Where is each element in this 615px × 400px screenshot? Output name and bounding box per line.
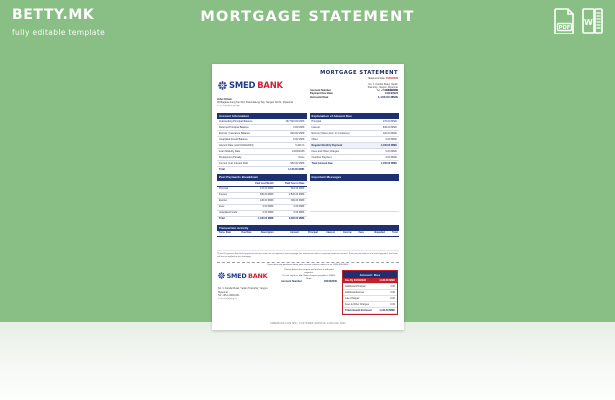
transaction-activity-table: Trans. Date Due Date Description Amount …	[217, 231, 399, 251]
brand-subtitle: fully editable template	[12, 28, 105, 37]
logo-primary-text: SMED	[229, 81, 255, 89]
explanation-table: Principal170.00 MMK Interest840.00 MMK E…	[310, 119, 400, 166]
letterhead: SMED BANK MORTGAGE STATEMENT Statement D…	[217, 69, 399, 96]
logo-secondary-text: BANK	[248, 273, 267, 279]
row-value: 1,130.00 MMK	[273, 167, 307, 172]
table-row-total: Total Amount Enclosed1,130.00 MMK	[343, 308, 397, 314]
stub-account-line: Account Number 000402000	[281, 280, 337, 283]
account-information-table: Outstanding Principal Balance167,500.00 …	[217, 119, 307, 172]
stub-bank-logo: SMED BANK	[218, 272, 267, 279]
bank-logo: SMED BANK	[218, 81, 283, 90]
important-messages-section: Important Messages	[310, 174, 400, 221]
fact-row-amount-due: Amount Due 1,130.00 MMK	[310, 96, 398, 99]
perforation-note: If you have any questions about your acc…	[217, 263, 399, 268]
past-payments-section: Past Payments Breakdown Paid Last Month …	[217, 174, 307, 221]
row-label: Total	[217, 216, 246, 221]
statement-title: MORTGAGE STATEMENT	[310, 70, 398, 76]
row-label: Total Amount Due	[310, 161, 370, 166]
breakdown-columns: Past Payments Breakdown Paid Last Month …	[217, 174, 399, 221]
logo-secondary-text: BANK	[257, 81, 283, 89]
document-page[interactable]: SMED BANK MORTGAGE STATEMENT Statement D…	[212, 64, 404, 330]
page-title: MORTGAGE STATEMENT	[0, 9, 615, 25]
row-value: 1,130.00 MMK	[370, 161, 399, 166]
account-facts: Account Number 000402000 Payment Due Dat…	[310, 89, 398, 99]
svg-text:PDF: PDF	[559, 25, 571, 31]
summary-columns: Account Information Outstanding Principa…	[217, 113, 399, 172]
table-row-total: Total1,130.00 MMK	[217, 167, 307, 172]
table-row-total: Total Amount Due1,130.00 MMK	[310, 161, 400, 166]
bank-emblem-icon	[218, 81, 227, 90]
background-bottom	[0, 322, 615, 400]
table-row	[217, 237, 399, 251]
file-format-icons: PDF W	[554, 8, 603, 34]
customer-address-block: John Citizen 45 Bagaite Aung Sen Rd, Paz…	[217, 98, 399, 111]
table-row-total: Total1,130.00 MMK3,390.00 MMK	[217, 216, 307, 221]
logo-primary-text: SMED	[227, 273, 247, 279]
screenshot-root: BETTY.MK fully editable template MORTGAG…	[0, 0, 615, 400]
stub-account-label: Account Number	[281, 280, 302, 283]
stub-account-value: 000402000	[324, 280, 337, 283]
amount-due-box: Amount Due Due By 01/04/2023 1,130.00 MM…	[342, 270, 398, 315]
past-payments-table: Paid Last Month Paid Year to Date Princi…	[217, 181, 307, 222]
word-file-icon[interactable]: W	[582, 8, 603, 34]
stub-local-line: လောက်မှတ်ပုံစာမျက်	[218, 297, 278, 300]
amount-due-table: Due By 01/04/2023 1,130.00 MMK Additiona…	[343, 278, 397, 314]
account-information-section: Account Information Outstanding Principa…	[217, 113, 307, 172]
svg-text:W: W	[584, 18, 593, 27]
customer-local-line: လောက်မှတ်ပုံစာမျက်နှာ	[217, 104, 399, 107]
explanation-of-amount-due-section: Explanation of Amount Due Principal170.0…	[310, 113, 400, 172]
fact-value: 1,130.00 MMK	[378, 96, 398, 99]
amount-due-title: Amount Due	[343, 271, 397, 278]
row-value: 3,390.00 MMK	[276, 216, 307, 221]
page-header: BETTY.MK fully editable template MORTGAG…	[0, 0, 615, 56]
bank-emblem-icon	[218, 272, 225, 279]
fact-label: Amount Due	[310, 96, 328, 99]
issue-date-value: 15/01/2024	[386, 77, 398, 80]
issue-date-label: Statement Date:	[368, 77, 385, 80]
issue-date-line: Statement Date: 15/01/2024	[310, 77, 398, 80]
row-value: 1,130.00 MMK	[376, 308, 397, 314]
row-value: 1,130.00 MMK	[246, 216, 276, 221]
stub-address-text: No. 1, Kandar Road, Yankin Township, Yan…	[218, 287, 278, 296]
pdf-file-icon[interactable]: PDF	[554, 8, 575, 34]
row-label: Total Amount Enclosed	[343, 308, 376, 314]
partial-payment-note: *Partial Payments: Any partial payments …	[217, 253, 399, 259]
row-label: Total	[217, 167, 273, 172]
stub-address: No. 1, Kandar Road, Yankin Township, Yan…	[218, 287, 278, 299]
transaction-activity-section: Transaction Activity Trans. Date Due Dat…	[217, 225, 399, 259]
document-footer: SMEDBANK.COM.MM | CUSTOMER SERVICE 1-800…	[212, 323, 404, 325]
payment-stub: SMED BANK Please detach this coupon and …	[217, 268, 399, 312]
